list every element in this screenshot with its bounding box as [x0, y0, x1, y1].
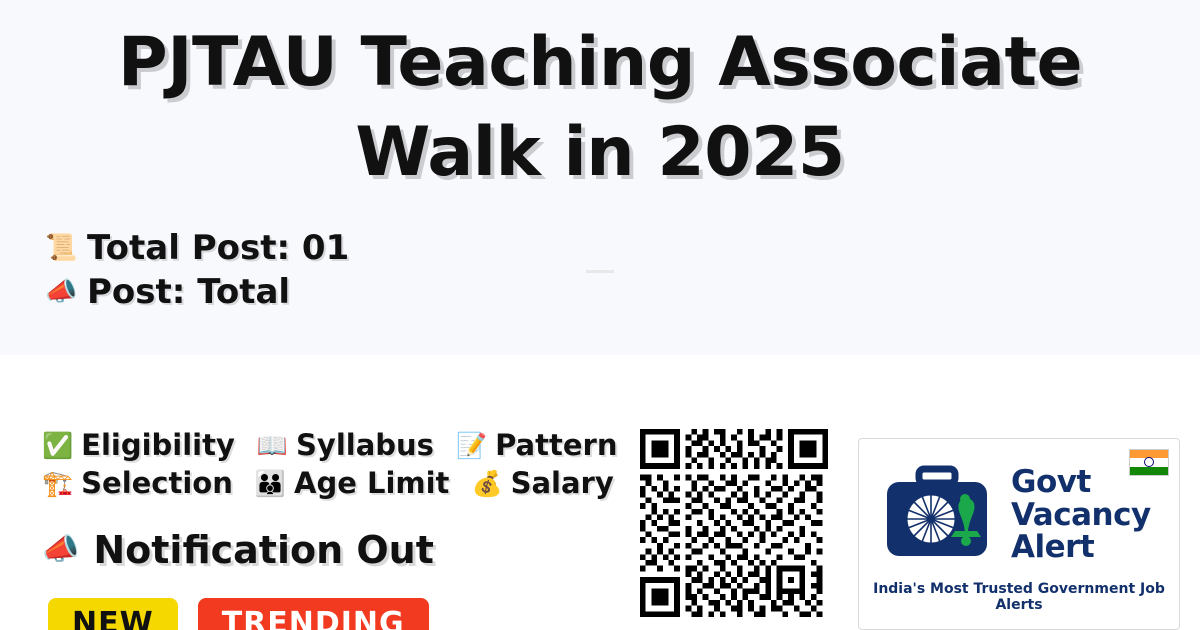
post-line: 📜 Total Post: 01 — [45, 228, 349, 268]
brand-wordmark: Govt Vacancy Alert — [1011, 466, 1151, 565]
check-mark-icon: ✅ — [42, 433, 73, 458]
exam-paper-icon: 📝 — [456, 433, 487, 458]
brand-line-3: Alert — [1011, 531, 1151, 564]
scroll-document-icon: 📜 — [45, 235, 75, 261]
feature-row: ✅ Eligibility 📖 Syllabus 📝 Pattern — [42, 428, 662, 462]
notification-label: Notification Out — [93, 528, 434, 572]
flag-stripe-green — [1130, 467, 1168, 475]
feature-list: ✅ Eligibility 📖 Syllabus 📝 Pattern 🏗️ Se… — [42, 428, 662, 504]
money-bag-icon: 💰 — [471, 471, 502, 496]
status-badge-new[interactable]: NEW — [48, 598, 178, 630]
open-book-icon: 📖 — [257, 433, 288, 458]
feature-age-limit: 👪 Age Limit — [255, 466, 450, 500]
qr-code-card[interactable] — [625, 415, 843, 630]
feature-salary: 💰 Salary — [471, 466, 613, 500]
feature-label: Age Limit — [294, 466, 449, 500]
announcement-icon: 📣 — [42, 535, 79, 565]
flag-stripe-white — [1130, 458, 1168, 466]
brand-top: Govt Vacancy Alert — [873, 451, 1165, 579]
feature-eligibility: ✅ Eligibility — [42, 428, 235, 462]
briefcase-ashoka-chakra-bell-logo — [873, 455, 1001, 575]
feature-pattern: 📝 Pattern — [456, 428, 618, 462]
post-summary: 📜 Total Post: 01 📣 Post: Total — [45, 228, 349, 316]
feature-syllabus: 📖 Syllabus — [257, 428, 434, 462]
feature-label: Salary — [511, 466, 614, 500]
feature-label: Selection — [81, 466, 233, 500]
post-total-label: Post: Total — [87, 272, 290, 312]
qr-code[interactable] — [640, 429, 828, 617]
feature-selection: 🏗️ Selection — [42, 466, 233, 500]
post-line: 📣 Post: Total — [45, 272, 349, 312]
page-title-wrap: PJTAU Teaching Associate Walk in 2025 — [0, 18, 1200, 199]
ashoka-chakra-icon — [1144, 457, 1154, 467]
notification-out: 📣 Notification Out — [42, 528, 434, 572]
page-title: PJTAU Teaching Associate Walk in 2025 — [0, 18, 1200, 199]
feature-label: Pattern — [495, 428, 617, 462]
brand-line-2: Vacancy — [1011, 499, 1151, 532]
selection-icon: 🏗️ — [42, 471, 73, 496]
status-badge-trending[interactable]: TRENDING — [198, 598, 429, 630]
feature-label: Syllabus — [296, 428, 434, 462]
poster: PJTAU Teaching Associate Walk in 2025 📜 … — [0, 0, 1200, 630]
brand-tagline: India's Most Trusted Government Job Aler… — [873, 581, 1165, 613]
feature-label: Eligibility — [81, 428, 235, 462]
faint-divider-mark — [586, 270, 614, 273]
india-flag-icon — [1129, 449, 1169, 476]
megaphone-icon: 📣 — [45, 279, 75, 305]
feature-row: 🏗️ Selection 👪 Age Limit 💰 Salary — [42, 466, 662, 500]
total-post-label: Total Post: 01 — [87, 228, 349, 268]
brand-card[interactable]: Govt Vacancy Alert India's Most Trusted … — [858, 438, 1180, 630]
badge-row: NEW TRENDING — [48, 598, 429, 630]
family-age-icon: 👪 — [255, 471, 286, 496]
